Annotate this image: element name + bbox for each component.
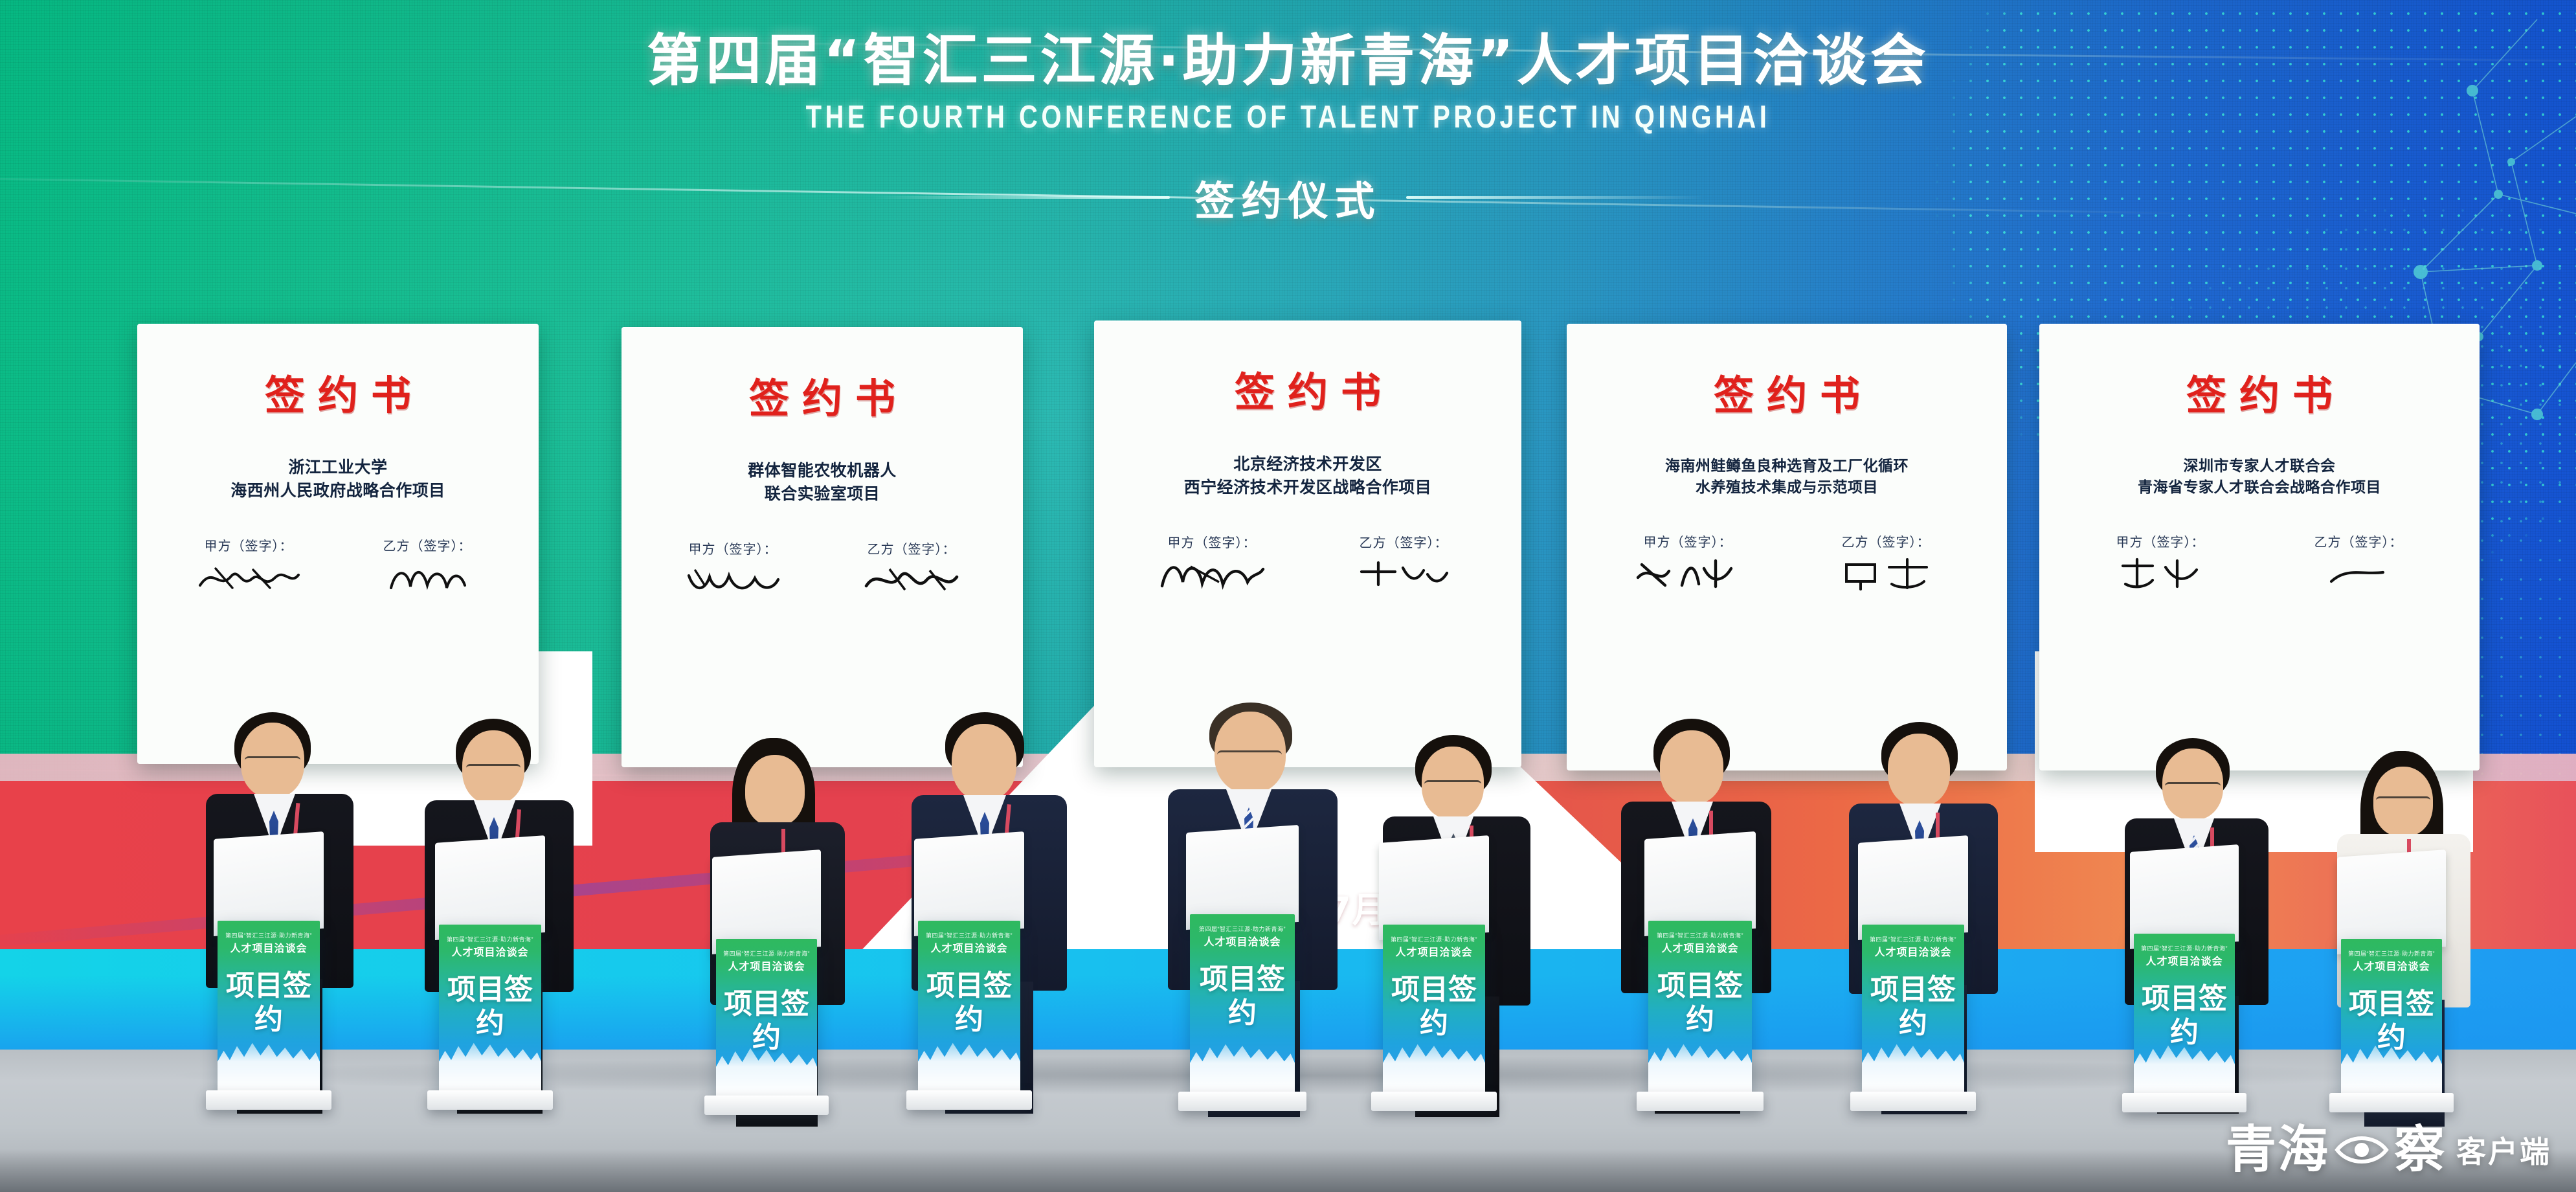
podium-header-small: 第四届“智汇三江源·助力新青海”: [1190, 925, 1295, 933]
glasses-icon: [1217, 750, 1282, 761]
signing-podium[interactable]: 第四届“智汇三江源·助力新青海” 人才项目洽谈会 项目签约: [435, 839, 545, 1094]
podium-base: [1371, 1092, 1497, 1111]
signing-podium[interactable]: 第四届“智汇三江源·助力新青海” 人才项目洽谈会 项目签约: [1858, 839, 1968, 1096]
podium-panel: 第四届“智汇三江源·助力新青海” 人才项目洽谈会 项目签约: [716, 939, 817, 1099]
podium-header-small: 第四届“智汇三江源·助力新青海”: [716, 949, 817, 958]
glasses-icon: [245, 756, 300, 765]
podium-header-large: 人才项目洽谈会: [2341, 958, 2442, 973]
signing-podium[interactable]: 第四届“智汇三江源·助力新青海” 人才项目洽谈会 项目签约: [712, 853, 821, 1099]
podium-base: [704, 1096, 829, 1115]
party-b-signature: [1355, 556, 1452, 594]
podium-base: [2122, 1093, 2246, 1112]
party-b-label: 乙方（签字）：: [868, 539, 956, 557]
signature-row: 甲方（签字）： 乙方（签字）：: [150, 535, 526, 597]
certificate-line-2: 西宁经济技术开发区战略合作项目: [1184, 476, 1432, 499]
watermark-suffix: 客户端: [2456, 1129, 2551, 1175]
certificate-project-name: 浙江工业大学 海西州人民政府战略合作项目: [230, 456, 445, 502]
podium-label: 项目签约: [1383, 973, 1485, 1040]
party-b-signature: [1837, 556, 1934, 593]
certificate-line-2: 海西州人民政府战略合作项目: [230, 479, 445, 502]
podium-header-small: 第四届“智汇三江源·助力新青海”: [218, 931, 320, 939]
certificate-line-2: 联合实验室项目: [748, 482, 897, 506]
watermark-brand-cha: 察: [2394, 1125, 2446, 1175]
podium-header: 第四届“智汇三江源·助力新青海” 人才项目洽谈会: [439, 935, 541, 959]
event-title-chinese: 第四届“智汇三江源·助力新青海”人才项目洽谈会: [0, 31, 2576, 91]
podium-header-small: 第四届“智汇三江源·助力新青海”: [2134, 944, 2235, 952]
podium-header-large: 人才项目洽谈会: [439, 943, 541, 959]
podium-header-large: 人才项目洽谈会: [918, 939, 1020, 955]
certificate-board[interactable]: 签约书 海南州鲑鳟鱼良种选育及工厂化循环 水养殖技术集成与示范项目 甲方（签字）…: [1567, 324, 2007, 770]
podium-base: [427, 1090, 553, 1110]
podium-label: 项目签约: [1648, 969, 1752, 1037]
podium-header-large: 人才项目洽谈会: [218, 939, 320, 955]
certificate-line-1: 海南州鲑鳟鱼良种选育及工厂化循环: [1665, 456, 1909, 477]
certificate-line-1: 北京经济技术开发区: [1184, 453, 1432, 476]
ceremony-divider-right: [1406, 196, 1704, 199]
podium-header-small: 第四届“智汇三江源·助力新青海”: [439, 935, 541, 943]
certificate-project-name: 北京经济技术开发区 西宁经济技术开发区战略合作项目: [1184, 453, 1432, 499]
certificate-project-name: 群体智能农牧机器人 联合实验室项目: [748, 459, 897, 505]
party-a-label: 甲方（签字）：: [2116, 532, 2204, 550]
signature-row: 甲方（签字）： 乙方（签字）：: [1580, 532, 1994, 593]
podium-panel: 第四届“智汇三江源·助力新青海” 人才项目洽谈会 项目签约: [1383, 925, 1485, 1096]
podium-panel: 第四届“智汇三江源·助力新青海” 人才项目洽谈会 项目签约: [2134, 934, 2235, 1097]
podium-label: 项目签约: [1862, 973, 1964, 1040]
signing-podium[interactable]: 第四届“智汇三江源·助力新青海” 人才项目洽谈会 项目签约: [1644, 835, 1756, 1096]
podium-header-large: 人才项目洽谈会: [1862, 943, 1964, 959]
party-b-block: 乙方（签字）：: [833, 539, 991, 600]
certificate-project-name: 海南州鲑鳟鱼良种选育及工厂化循环 水养殖技术集成与示范项目: [1665, 456, 1909, 498]
party-a-label: 甲方（签字）：: [1168, 532, 1257, 551]
podium-header: 第四届“智汇三江源·助力新青海” 人才项目洽谈会: [1383, 935, 1485, 959]
certificate-project-name: 深圳市专家人才联合会 青海省专家人才联合会战略合作项目: [2138, 456, 2381, 498]
party-a-block: 甲方（签字）：: [170, 535, 328, 597]
signing-podium[interactable]: 第四届“智汇三江源·助力新青海” 人才项目洽谈会 项目签约: [214, 835, 324, 1094]
ceremony-title-row: 签约仪式: [0, 168, 2576, 227]
podium-header-small: 第四届“智汇三江源·助力新青海”: [1862, 935, 1964, 943]
party-a-label: 甲方（签字）：: [1643, 532, 1732, 550]
podium-base: [1637, 1092, 1764, 1111]
certificate-line-2: 水养殖技术集成与示范项目: [1665, 477, 1909, 499]
certificate-heading: 签约书: [736, 366, 908, 424]
party-a-signature: [1633, 556, 1743, 593]
party-b-block: 乙方（签字）：: [2271, 532, 2445, 593]
podium-panel: 第四届“智汇三江源·助力新青海” 人才项目洽谈会 项目签约: [439, 925, 541, 1094]
podium-label: 项目签约: [2341, 987, 2442, 1055]
podium-label: 项目签约: [2134, 982, 2235, 1050]
party-a-block: 甲方（签字）：: [1600, 532, 1775, 593]
party-b-block: 乙方（签字）：: [1798, 532, 1973, 593]
party-b-label: 乙方（签字）：: [2314, 532, 2402, 550]
podium-header-large: 人才项目洽谈会: [2134, 952, 2235, 968]
certificate-heading: 签约书: [2173, 363, 2346, 421]
watermark-brand-group: 青海 察: [2226, 1125, 2446, 1175]
signing-podium[interactable]: 第四届“智汇三江源·助力新青海” 人才项目洽谈会 项目签约: [2130, 848, 2239, 1097]
podium-header: 第四届“智汇三江源·助力新青海” 人才项目洽谈会: [1648, 931, 1752, 955]
podium-header-large: 人才项目洽谈会: [1383, 943, 1485, 959]
head: [1888, 734, 1950, 806]
party-b-signature: [382, 559, 473, 597]
signing-podium[interactable]: 第四届“智汇三江源·助力新青海” 人才项目洽谈会 项目签约: [1379, 839, 1489, 1096]
party-a-block: 甲方（签字）：: [2073, 532, 2247, 593]
party-b-block: 乙方（签字）：: [1319, 532, 1488, 594]
podium-header-large: 人才项目洽谈会: [1648, 939, 1752, 955]
conference-signing-ceremony-stage: 第四届“智汇三江源·助力新青海”人才项目洽谈会 THE FOURTH CONFE…: [0, 0, 2576, 1192]
party-a-block: 甲方（签字）：: [655, 539, 812, 600]
podium-header-small: 第四届“智汇三江源·助力新青海”: [2341, 949, 2442, 958]
podium-header: 第四届“智汇三江源·助力新青海” 人才项目洽谈会: [2341, 949, 2442, 973]
head: [952, 724, 1016, 800]
podium-header: 第四届“智汇三江源·助力新青海” 人才项目洽谈会: [716, 949, 817, 973]
podium-base: [206, 1090, 331, 1110]
party-b-label: 乙方（签字）：: [1841, 532, 1930, 550]
podium-label: 项目签约: [918, 969, 1020, 1037]
podium-header: 第四届“智汇三江源·助力新青海” 人才项目洽谈会: [918, 931, 1020, 955]
head: [1660, 730, 1723, 804]
certificate-heading: 签约书: [1701, 363, 1873, 421]
podium-base: [2329, 1093, 2454, 1112]
party-a-signature: [2115, 556, 2206, 593]
party-a-label: 甲方（签字）：: [205, 535, 293, 554]
ceremony-title: 签约仪式: [1194, 168, 1381, 227]
podium-base: [1178, 1092, 1306, 1111]
party-a-signature: [1157, 556, 1267, 594]
glasses-icon: [2165, 782, 2221, 791]
certificate-board[interactable]: 签约书 浙江工业大学 海西州人民政府战略合作项目 甲方（签字）： 乙方（签字）：: [137, 324, 539, 764]
podium-header: 第四届“智汇三江源·助力新青海” 人才项目洽谈会: [1190, 925, 1295, 949]
event-title-english: THE FOURTH CONFERENCE OF TALENT PROJECT …: [0, 100, 2576, 135]
party-a-label: 甲方（签字）：: [689, 539, 778, 557]
podium-label: 项目签约: [1190, 963, 1295, 1030]
eye-icon: [2335, 1132, 2389, 1168]
podium-panel: 第四届“智汇三江源·助力新青海” 人才项目洽谈会 项目签约: [1862, 925, 1964, 1096]
podium-header: 第四届“智汇三江源·助力新青海” 人才项目洽谈会: [1862, 935, 1964, 959]
signing-podium[interactable]: 第四届“智汇三江源·助力新青海” 人才项目洽谈会 项目签约: [914, 835, 1024, 1094]
event-headline-block: 第四届“智汇三江源·助力新青海”人才项目洽谈会 THE FOURTH CONFE…: [0, 31, 2576, 227]
signing-podium[interactable]: 第四届“智汇三江源·助力新青海” 人才项目洽谈会 项目签约: [2337, 853, 2446, 1097]
podium-panel: 第四届“智汇三江源·助力新青海” 人才项目洽谈会 项目签约: [2341, 939, 2442, 1097]
glasses-icon: [1424, 780, 1481, 789]
party-a-block: 甲方（签字）：: [1128, 532, 1296, 594]
broadcaster-watermark: 青海 察 客户端: [2226, 1125, 2551, 1175]
certificate-line-2: 青海省专家人才联合会战略合作项目: [2138, 477, 2381, 499]
podium-header-small: 第四届“智汇三江源·助力新青海”: [1383, 935, 1485, 943]
podium-base: [906, 1090, 1032, 1110]
podium-label: 项目签约: [716, 987, 817, 1055]
certificate-heading: 签约书: [252, 363, 424, 421]
ceremony-divider-left: [872, 196, 1170, 199]
signature-row: 甲方（签字）： 乙方（签字）：: [634, 539, 1010, 600]
certificate-line-1: 浙江工业大学: [230, 456, 445, 479]
podium-header-large: 人才项目洽谈会: [1190, 933, 1295, 949]
signature-row: 甲方（签字）： 乙方（签字）：: [2052, 532, 2467, 593]
podium-header: 第四届“智汇三江源·助力新青海” 人才项目洽谈会: [2134, 944, 2235, 968]
podium-panel: 第四届“智汇三江源·助力新青海” 人才项目洽谈会 项目签约: [1190, 914, 1295, 1096]
party-b-block: 乙方（签字）：: [349, 535, 506, 597]
certificate-board[interactable]: 签约书 深圳市专家人才联合会 青海省专家人才联合会战略合作项目 甲方（签字）： …: [2039, 324, 2480, 770]
party-a-signature: [194, 559, 304, 597]
podium-header-small: 第四届“智汇三江源·助力新青海”: [918, 931, 1020, 939]
certificate-board[interactable]: 签约书 群体智能农牧机器人 联合实验室项目 甲方（签字）： 乙方（签字）：: [622, 327, 1023, 767]
watermark-brand-qing: 青海: [2226, 1125, 2329, 1175]
party-a-signature: [681, 563, 785, 600]
certificate-line-1: 深圳市专家人才联合会: [2138, 456, 2381, 477]
certificate-line-1: 群体智能农牧机器人: [748, 459, 897, 482]
party-b-signature: [860, 563, 963, 600]
podium-header-large: 人才项目洽谈会: [716, 958, 817, 973]
party-b-label: 乙方（签字）：: [1360, 532, 1448, 551]
glasses-icon: [466, 764, 521, 773]
glasses-icon: [2376, 796, 2430, 805]
podium-label: 项目签约: [439, 973, 541, 1040]
podium-base: [1850, 1092, 1976, 1111]
podium-label: 项目签约: [218, 969, 320, 1037]
certificate-heading: 签约书: [1222, 359, 1394, 418]
podium-panel: 第四届“智汇三江源·助力新青海” 人才项目洽谈会 项目签约: [218, 921, 320, 1094]
party-b-label: 乙方（签字）：: [383, 535, 472, 554]
signature-row: 甲方（签字）： 乙方（签字）：: [1107, 532, 1508, 594]
podium-header-small: 第四届“智汇三江源·助力新青海”: [1648, 931, 1752, 939]
podium-panel: 第四届“智汇三江源·助力新青海” 人才项目洽谈会 项目签约: [918, 921, 1020, 1094]
podium-panel: 第四届“智汇三江源·助力新青海” 人才项目洽谈会 项目签约: [1648, 921, 1752, 1096]
party-b-signature: [2320, 556, 2397, 593]
certificate-board[interactable]: 签约书 北京经济技术开发区 西宁经济技术开发区战略合作项目 甲方（签字）： 乙方…: [1094, 320, 1521, 767]
signing-podium[interactable]: 第四届“智汇三江源·助力新青海” 人才项目洽谈会 项目签约: [1186, 829, 1299, 1096]
head: [745, 755, 805, 826]
podium-header: 第四届“智汇三江源·助力新青海” 人才项目洽谈会: [218, 931, 320, 955]
